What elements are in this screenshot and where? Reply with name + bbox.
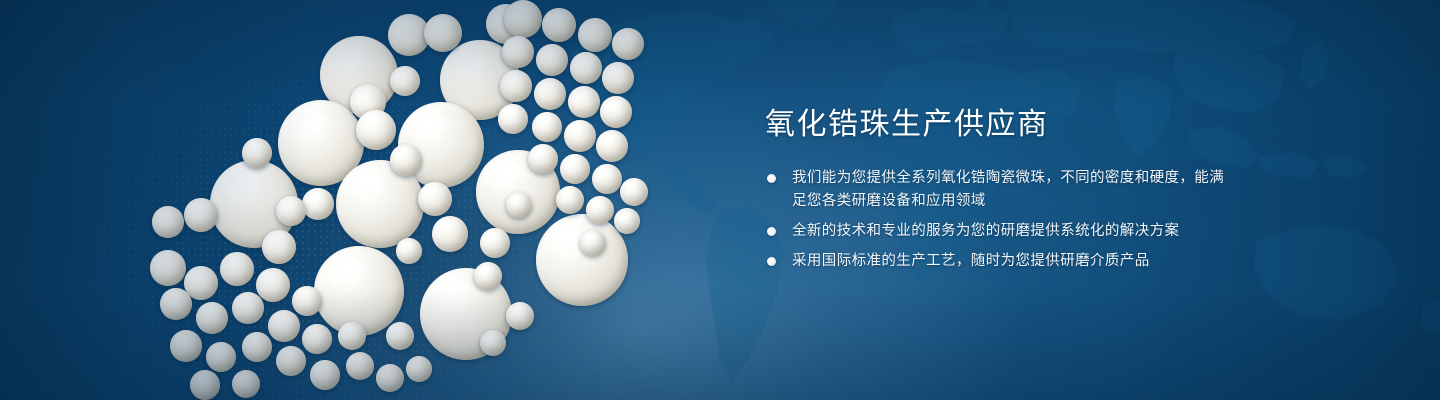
page-title: 氧化锆珠生产供应商 xyxy=(765,108,1235,141)
bullet-dot-icon xyxy=(767,257,776,266)
hero-banner: 氧化锆珠生产供应商 我们能为您提供全系列氧化锆陶瓷微珠，不同的密度和硬度，能满足… xyxy=(0,0,1440,400)
list-item-label: 全新的技术和专业的服务为您的研磨提供系统化的解决方案 xyxy=(792,223,1179,239)
bullet-dot-icon xyxy=(767,174,776,183)
list-item: 全新的技术和专业的服务为您的研磨提供系统化的解决方案 xyxy=(765,220,1235,243)
list-item-label: 采用国际标准的生产工艺，随时为您提供研磨介质产品 xyxy=(792,253,1150,269)
feature-list: 我们能为您提供全系列氧化锆陶瓷微珠，不同的密度和硬度，能满足您各类研磨设备和应用… xyxy=(765,167,1235,273)
list-item: 我们能为您提供全系列氧化锆陶瓷微珠，不同的密度和硬度，能满足您各类研磨设备和应用… xyxy=(765,167,1235,213)
list-item: 采用国际标准的生产工艺，随时为您提供研磨介质产品 xyxy=(765,250,1235,273)
bullet-dot-icon xyxy=(767,227,776,236)
banner-copy: 氧化锆珠生产供应商 我们能为您提供全系列氧化锆陶瓷微珠，不同的密度和硬度，能满足… xyxy=(765,108,1235,273)
list-item-label: 我们能为您提供全系列氧化锆陶瓷微珠，不同的密度和硬度，能满足您各类研磨设备和应用… xyxy=(792,170,1224,209)
